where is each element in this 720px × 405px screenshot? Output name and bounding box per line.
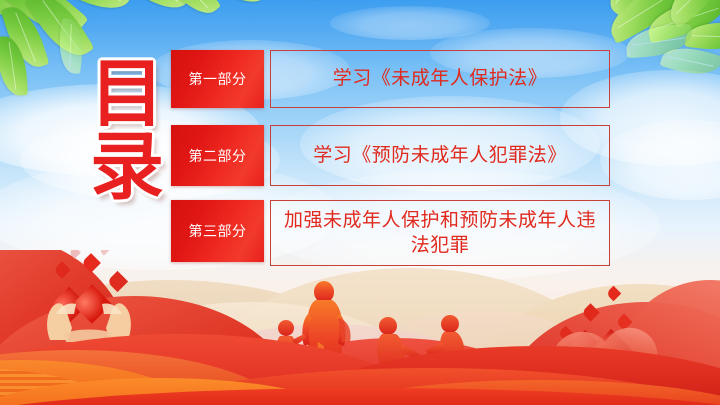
section-chip-2[interactable]: 第二部分 — [171, 125, 264, 186]
section-panel-text: 学习《未成年人保护法》 — [333, 66, 548, 92]
section-panel-1[interactable]: 学习《未成年人保护法》 — [270, 50, 610, 108]
hand-icon — [34, 268, 144, 344]
section-panel-text: 学习《预防未成年人犯罪法》 — [313, 143, 567, 169]
section-chip-label: 第二部分 — [189, 146, 247, 166]
bottom-illustration — [0, 250, 720, 405]
section-chip-label: 第一部分 — [189, 69, 247, 89]
section-chip-1[interactable]: 第一部分 — [171, 50, 264, 108]
floating-heart-icon — [98, 250, 109, 256]
section-chip-label: 第三部分 — [189, 221, 247, 241]
section-panel-2[interactable]: 学习《预防未成年人犯罪法》 — [270, 125, 610, 186]
hands-holding-hearts-icon — [34, 268, 144, 344]
slide-canvas: 目 录 第一部分 学习《未成年人保护法》 第二部分 学习《预防未成年人犯罪法》 … — [0, 0, 720, 405]
